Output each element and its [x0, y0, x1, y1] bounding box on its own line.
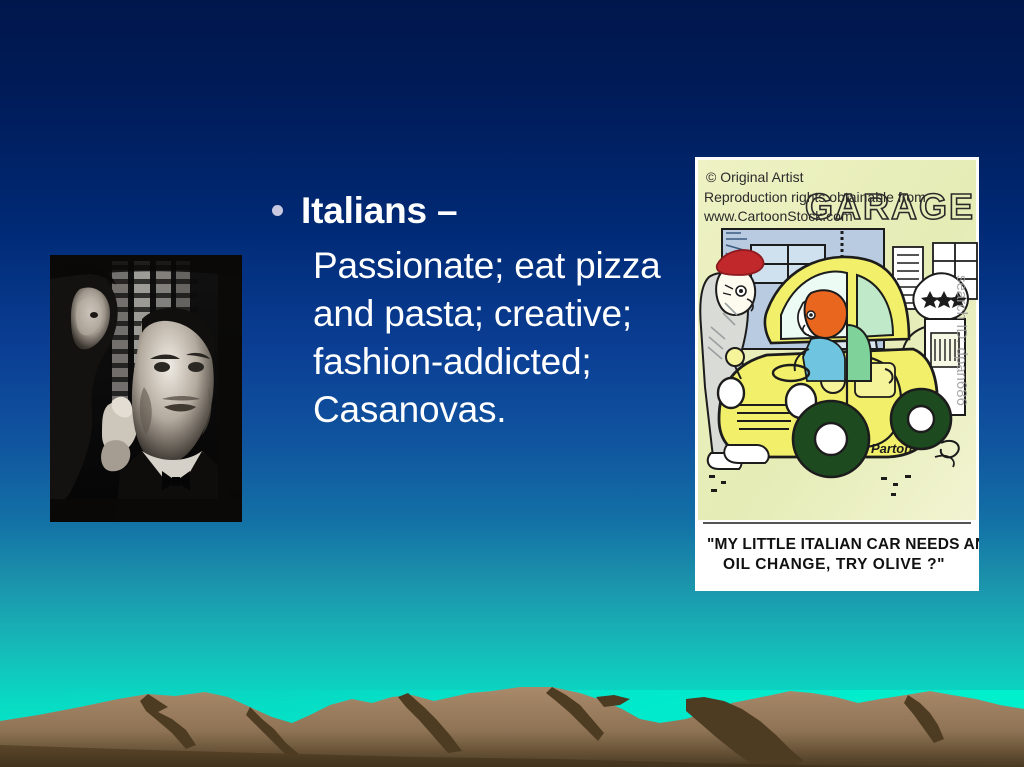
bullet-text-block: Italians – Passionate; eat pizza and pas…	[272, 186, 682, 434]
bullet-dot-icon	[272, 205, 283, 216]
bullet-item-italians: Italians –	[272, 186, 682, 235]
headlight-icon	[718, 378, 744, 408]
cartoon-caption-line-2: OIL CHANGE, TRY OLIVE ?"	[723, 556, 945, 573]
bullet-heading: Italians –	[301, 186, 457, 235]
cartoon-image-italian-car: GARAGE	[695, 157, 979, 591]
left-photo-image	[50, 255, 242, 522]
cartoon-caption-line-1: "MY LITTLE ITALIAN CAR NEEDS AN	[707, 536, 979, 553]
watermark-line-3: www.CartoonStock.com	[703, 208, 853, 224]
bullet-body-text: Passionate; eat pizza and pasta; creativ…	[313, 242, 682, 434]
left-photo-godfather	[50, 255, 242, 522]
watermark-line-2: Reproduction rights obtainable from	[704, 189, 926, 205]
watermark-search-id: search ID: dpan686	[953, 275, 970, 406]
cartoon-illustration: GARAGE	[695, 157, 979, 591]
mountain-range-graphic	[0, 637, 1024, 767]
slide-canvas: Italians – Passionate; eat pizza and pas…	[0, 0, 1024, 767]
watermark-copyright: © Original Artist	[706, 169, 804, 185]
cartoon-signature: Parton	[871, 441, 912, 456]
